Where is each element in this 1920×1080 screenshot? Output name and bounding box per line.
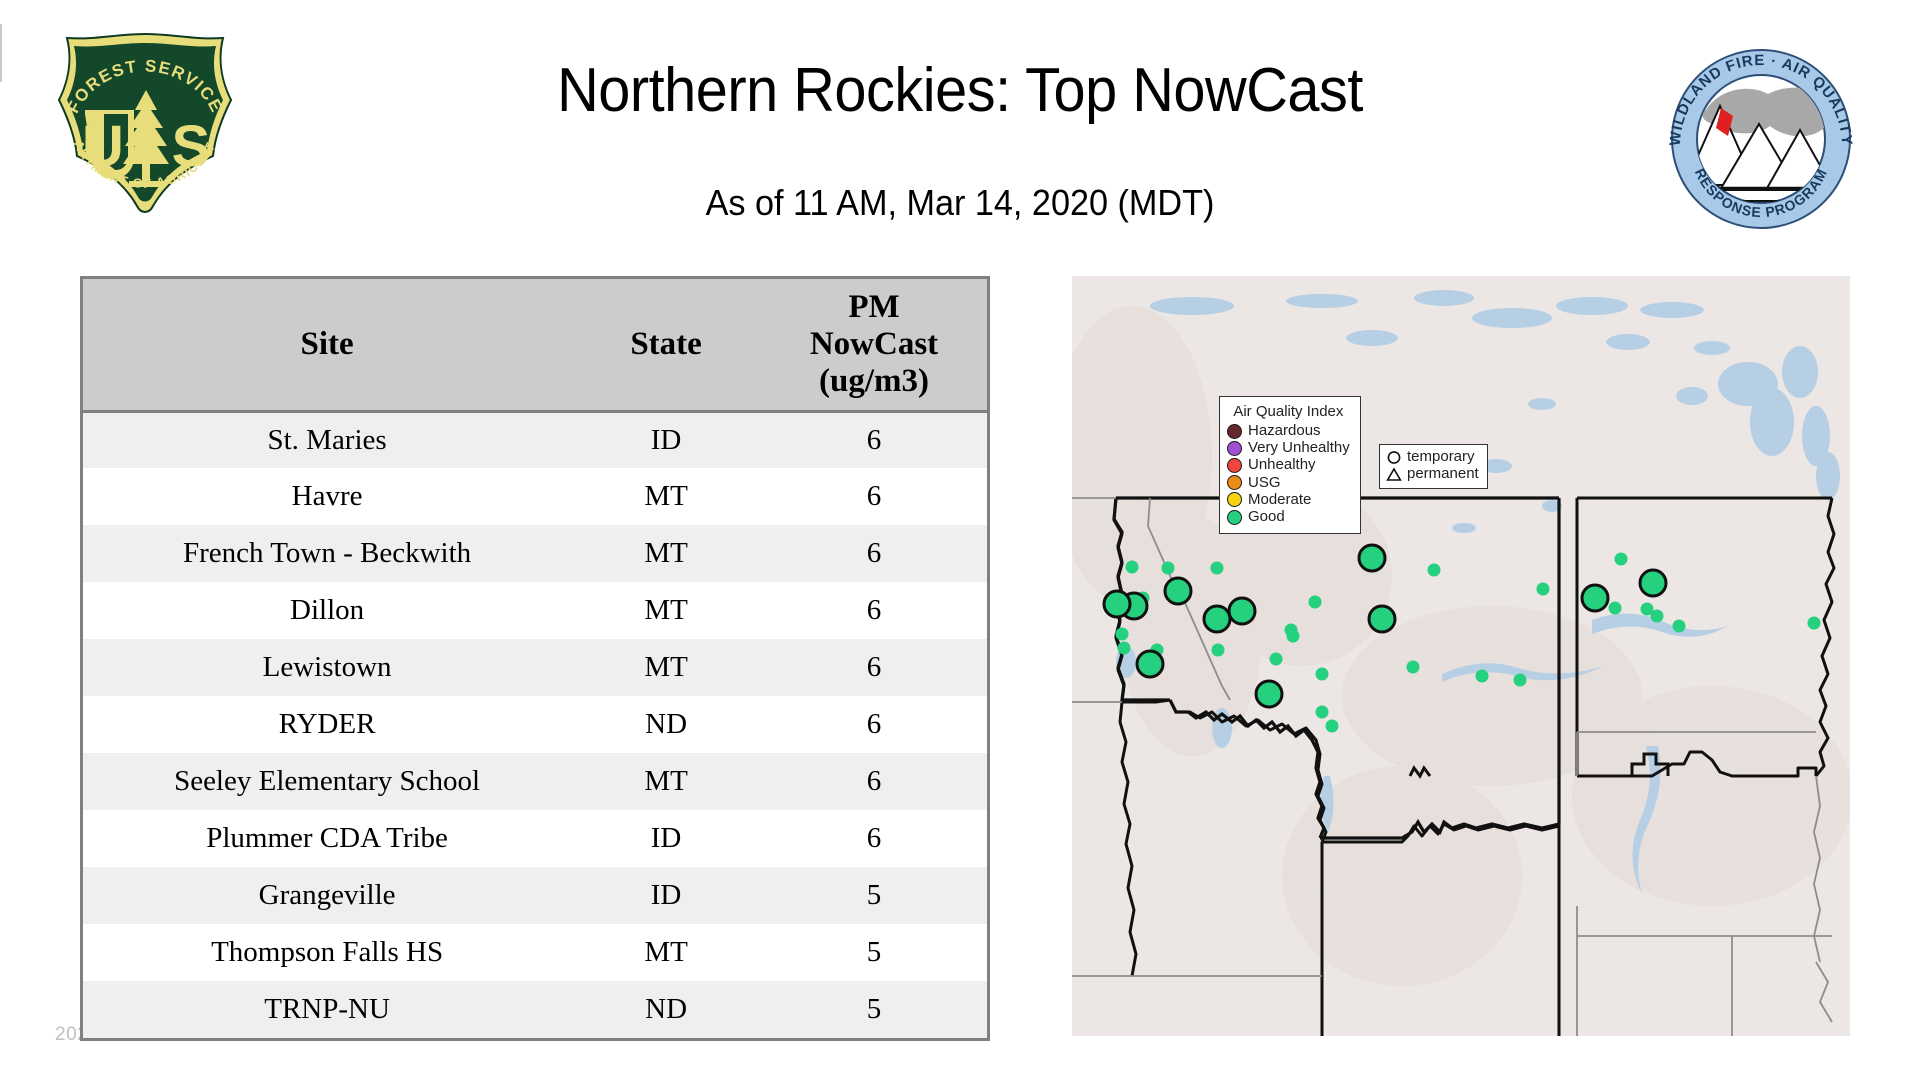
aqi-legend-swatch <box>1227 475 1242 490</box>
pm-nowcast-cell: 6 <box>761 411 987 468</box>
state-cell: MT <box>571 525 761 582</box>
wildland-fire-air-quality-response-program-logo: WILDLAND FIRE · AIR QUALITY RESPONSE PRO… <box>1658 38 1863 238</box>
pm-nowcast-cell: 6 <box>761 753 987 810</box>
map-site-marker-small[interactable] <box>1126 561 1139 574</box>
table-row[interactable]: Plummer CDA TribeID6 <box>83 810 987 867</box>
legend-row-temporary: temporary <box>1386 449 1479 465</box>
pm-nowcast-cell: 5 <box>761 981 987 1038</box>
map-site-marker-large[interactable] <box>1165 578 1191 604</box>
aqi-legend-label: Very Unhealthy <box>1248 440 1350 456</box>
state-cell: MT <box>571 924 761 981</box>
map-site-marker-small[interactable] <box>1407 661 1420 674</box>
map-site-marker-small[interactable] <box>1162 562 1175 575</box>
column-header-pm-nowcast[interactable]: PM NowCast (ug/m3) <box>761 279 987 411</box>
legend-label-temporary: temporary <box>1407 449 1475 465</box>
pm-nowcast-cell: 5 <box>761 867 987 924</box>
column-header-state-label: State <box>630 326 701 362</box>
state-cell: ND <box>571 981 761 1038</box>
map-site-marker-small[interactable] <box>1316 668 1329 681</box>
state-cell: MT <box>571 753 761 810</box>
column-header-state[interactable]: State <box>571 279 761 411</box>
aqi-legend-title: Air Quality Index <box>1227 403 1350 420</box>
aqi-legend-label: Hazardous <box>1248 423 1321 439</box>
legend-label-permanent: permanent <box>1407 466 1479 482</box>
map-site-marker-small[interactable] <box>1212 644 1225 657</box>
map-site-marker-small[interactable] <box>1270 653 1283 666</box>
table-row[interactable]: HavreMT6 <box>83 468 987 525</box>
page-title: Northern Rockies: Top NowCast <box>309 58 1611 123</box>
legend-row-permanent: permanent <box>1386 466 1479 482</box>
map-site-marker-large[interactable] <box>1256 681 1282 707</box>
nowcast-table-container: Site State PM NowCast (ug/m3) St. Maries… <box>80 276 990 1041</box>
map-site-marker-large[interactable] <box>1204 606 1230 632</box>
table-row[interactable]: DillonMT6 <box>83 582 987 639</box>
table-row[interactable]: Seeley Elementary SchoolMT6 <box>83 753 987 810</box>
map-site-marker-small[interactable] <box>1673 620 1686 633</box>
site-cell: Dillon <box>83 582 571 639</box>
aqi-legend-label: Good <box>1248 509 1285 525</box>
aqi-legend-swatch <box>1227 441 1242 456</box>
site-cell: Seeley Elementary School <box>83 753 571 810</box>
aqi-legend-swatch <box>1227 458 1242 473</box>
nowcast-table: Site State PM NowCast (ug/m3) St. Maries… <box>83 279 987 1038</box>
aqi-legend-label: Unhealthy <box>1248 457 1316 473</box>
column-header-site-label: Site <box>300 326 353 362</box>
aqi-legend-row: Unhealthy <box>1227 457 1350 473</box>
page-subtitle: As of 11 AM, Mar 14, 2020 (MDT) <box>295 182 1625 224</box>
map-site-marker-small[interactable] <box>1118 642 1131 655</box>
left-edge-artifact <box>0 24 2 82</box>
state-cell: MT <box>571 639 761 696</box>
table-body: St. MariesID6HavreMT6French Town - Beckw… <box>83 411 987 1038</box>
site-cell: TRNP-NU <box>83 981 571 1038</box>
map-site-marker-large[interactable] <box>1229 598 1255 624</box>
table-row[interactable]: French Town - BeckwithMT6 <box>83 525 987 582</box>
table-row[interactable]: RYDERND6 <box>83 696 987 753</box>
table-head: Site State PM NowCast (ug/m3) <box>83 279 987 411</box>
state-cell: MT <box>571 468 761 525</box>
state-cell: ND <box>571 696 761 753</box>
aqi-legend-rows: HazardousVery UnhealthyUnhealthyUSGModer… <box>1227 423 1350 525</box>
map-site-marker-small[interactable] <box>1287 630 1300 643</box>
state-cell: ID <box>571 867 761 924</box>
aqi-legend-swatch <box>1227 424 1242 439</box>
site-cell: Plummer CDA Tribe <box>83 810 571 867</box>
aqi-legend-label: Moderate <box>1248 492 1311 508</box>
map-site-marker-large[interactable] <box>1359 545 1385 571</box>
map-site-marker-small[interactable] <box>1316 706 1329 719</box>
table-row[interactable]: LewistownMT6 <box>83 639 987 696</box>
map-site-marker-small[interactable] <box>1651 610 1664 623</box>
site-type-legend: temporary permanent <box>1379 444 1488 489</box>
map-site-marker-small[interactable] <box>1615 553 1628 566</box>
map-svg <box>1072 276 1850 1036</box>
aqi-legend-swatch <box>1227 492 1242 507</box>
map-site-marker-small[interactable] <box>1326 720 1339 733</box>
map-site-marker-small[interactable] <box>1514 674 1527 687</box>
map-site-marker-large[interactable] <box>1582 585 1608 611</box>
pm-nowcast-cell: 6 <box>761 525 987 582</box>
site-cell: RYDER <box>83 696 571 753</box>
aqi-legend-row: Good <box>1227 509 1350 525</box>
map-site-marker-large[interactable] <box>1137 651 1163 677</box>
map-site-marker-large[interactable] <box>1640 570 1666 596</box>
site-cell: French Town - Beckwith <box>83 525 571 582</box>
map-site-marker-small[interactable] <box>1211 562 1224 575</box>
aqi-legend-row: Hazardous <box>1227 423 1350 439</box>
pm-nowcast-cell: 5 <box>761 924 987 981</box>
column-header-pm-line2: NowCast <box>765 326 983 363</box>
map-site-marker-large[interactable] <box>1369 606 1395 632</box>
state-cell: ID <box>571 810 761 867</box>
pm-nowcast-cell: 6 <box>761 468 987 525</box>
aqi-legend-row: USG <box>1227 475 1350 491</box>
column-header-pm-line3: (ug/m3) <box>765 363 983 400</box>
map-site-marker-small[interactable] <box>1476 670 1489 683</box>
state-cell: MT <box>571 582 761 639</box>
table-header-row: Site State PM NowCast (ug/m3) <box>83 279 987 411</box>
slide-canvas: FOREST SERVICE U S DEPARTMENT OF AGRICUL… <box>0 0 1920 1080</box>
circle-icon <box>1386 450 1402 465</box>
triangle-icon <box>1386 467 1402 482</box>
map-site-marker-small[interactable] <box>1116 628 1129 641</box>
pm-nowcast-cell: 6 <box>761 810 987 867</box>
column-header-pm-line1: PM <box>765 289 983 326</box>
site-cell: Thompson Falls HS <box>83 924 571 981</box>
table-row[interactable]: St. MariesID6 <box>83 411 987 468</box>
table-row[interactable]: TRNP-NUND5 <box>83 981 987 1038</box>
air-quality-index-legend: Air Quality Index HazardousVery Unhealth… <box>1219 396 1361 534</box>
aqi-legend-swatch <box>1227 510 1242 525</box>
map-site-marker-small[interactable] <box>1808 617 1821 630</box>
site-cell: St. Maries <box>83 411 571 468</box>
map-site-marker-large[interactable] <box>1104 591 1130 617</box>
site-cell: Havre <box>83 468 571 525</box>
pm-nowcast-cell: 6 <box>761 696 987 753</box>
aqi-legend-label: USG <box>1248 475 1281 491</box>
usfs-shield-logo: FOREST SERVICE U S DEPARTMENT OF AGRICUL… <box>45 28 245 223</box>
pm-nowcast-cell: 6 <box>761 639 987 696</box>
map-site-marker-small[interactable] <box>1609 602 1622 615</box>
map-site-marker-small[interactable] <box>1537 583 1550 596</box>
aqi-legend-row: Moderate <box>1227 492 1350 508</box>
state-cell: ID <box>571 411 761 468</box>
map-site-marker-small[interactable] <box>1428 564 1441 577</box>
table-row[interactable]: Thompson Falls HSMT5 <box>83 924 987 981</box>
map-site-marker-small[interactable] <box>1309 596 1322 609</box>
table-row[interactable]: GrangevilleID5 <box>83 867 987 924</box>
aqi-legend-row: Very Unhealthy <box>1227 440 1350 456</box>
site-cell: Grangeville <box>83 867 571 924</box>
air-quality-map[interactable] <box>1072 276 1850 1036</box>
pm-nowcast-cell: 6 <box>761 582 987 639</box>
site-cell: Lewistown <box>83 639 571 696</box>
column-header-site[interactable]: Site <box>83 279 571 411</box>
